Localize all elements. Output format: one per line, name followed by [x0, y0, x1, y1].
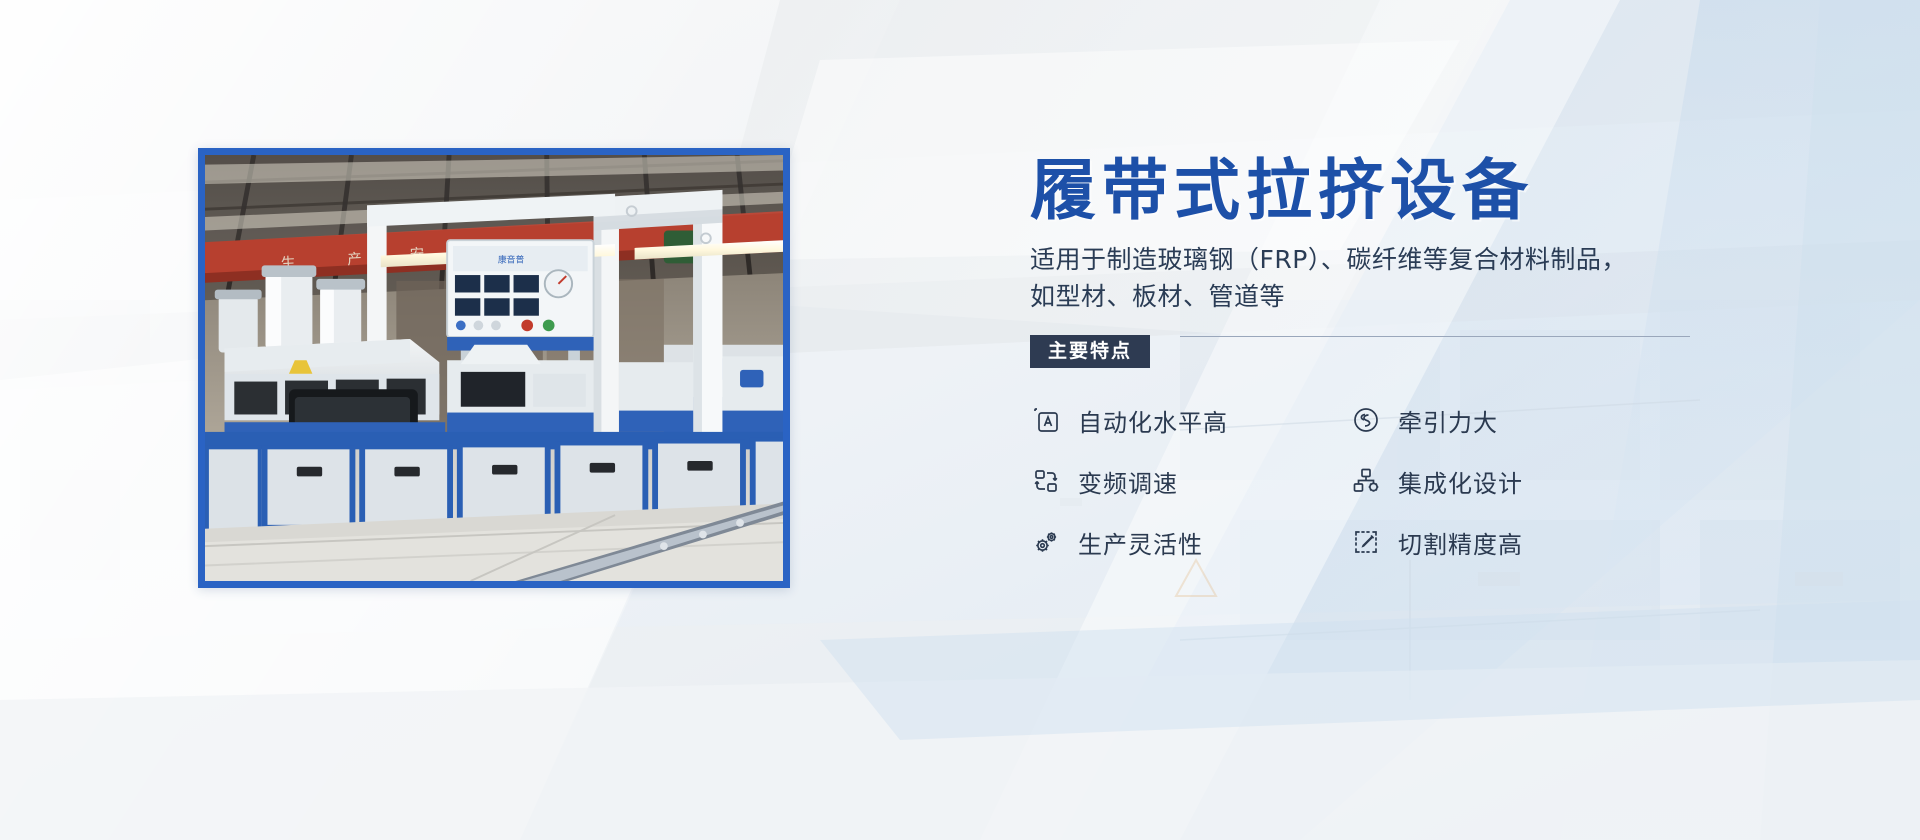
feature-item-integration[interactable]: 集成化设计: [1350, 464, 1670, 499]
frequency-conversion-icon: [1030, 465, 1062, 497]
feature-item-automation[interactable]: 自动化水平高: [1030, 403, 1350, 438]
feature-item-frequency[interactable]: 变频调速: [1030, 464, 1350, 499]
banner-content: 履带式拉挤设备 适用于制造玻璃钢（FRP）、碳纤维等复合材料制品，如型材、板材、…: [1030, 155, 1650, 560]
status-badge: 主要特点: [1030, 335, 1150, 368]
product-description: 适用于制造玻璃钢（FRP）、碳纤维等复合材料制品，如型材、板材、管道等: [1030, 242, 1650, 315]
factory-scene-illustration: 生 产 安 全: [205, 155, 783, 581]
feature-label: 牵引力大: [1398, 403, 1498, 438]
feature-label: 自动化水平高: [1078, 403, 1228, 438]
feature-label: 变频调速: [1078, 464, 1178, 499]
svg-text:康音普: 康音普: [498, 254, 525, 266]
features-heading-row: 主要特点: [1030, 335, 1650, 369]
svg-text:产: 产: [347, 251, 363, 269]
product-banner: 生 产 安 全: [0, 0, 1920, 840]
product-photo-card[interactable]: 生 产 安 全: [198, 148, 790, 588]
letter-a-in-frame-icon: [1030, 404, 1062, 436]
feature-item-cut-precision[interactable]: 切割精度高: [1350, 525, 1670, 560]
page-title: 履带式拉挤设备: [1030, 155, 1650, 226]
badge-divider-rule: [1180, 336, 1690, 337]
feature-item-flexibility[interactable]: 生产灵活性: [1030, 525, 1350, 560]
product-photo: 生 产 安 全: [205, 155, 783, 581]
feature-label: 集成化设计: [1398, 464, 1523, 499]
precision-cut-pen-icon: [1350, 526, 1382, 558]
feature-label: 切割精度高: [1398, 525, 1523, 560]
gears-icon: [1030, 526, 1062, 558]
feature-label: 生产灵活性: [1078, 525, 1203, 560]
integrated-design-nodes-icon: [1350, 465, 1382, 497]
feature-item-traction[interactable]: 牵引力大: [1350, 403, 1670, 438]
traction-waves-circle-icon: [1350, 404, 1382, 436]
feature-list: 自动化水平高 牵引力大: [1030, 403, 1650, 560]
